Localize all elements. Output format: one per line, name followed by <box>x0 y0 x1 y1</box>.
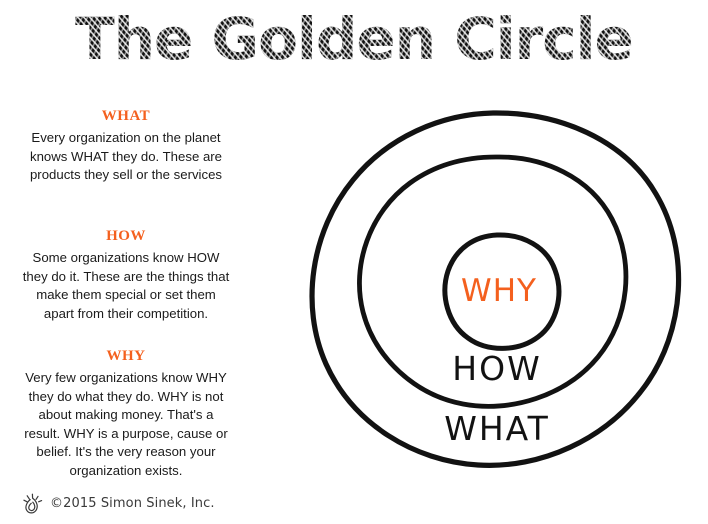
text-block-how: HOW Some organizations know HOW they do … <box>20 228 232 323</box>
block-heading-how: HOW <box>20 228 232 245</box>
spark-logo-icon <box>22 490 44 516</box>
block-body-how: Some organizations know HOW they do it. … <box>20 249 232 323</box>
block-body-why: Very few organizations know WHY they do … <box>20 369 232 480</box>
block-body-what: Every organization on the planet knows W… <box>20 129 232 185</box>
golden-circle-slide: The Golden Circle WHAT Every organizatio… <box>0 0 708 524</box>
text-block-what: WHAT Every organization on the planet kn… <box>20 108 232 185</box>
ring-label-how: HOW <box>452 349 541 388</box>
page-title: The Golden Circle <box>0 6 708 72</box>
golden-circle-diagram: WHY HOW WHAT <box>300 95 700 490</box>
ring-label-why: WHY <box>461 273 537 309</box>
text-block-why: WHY Very few organizations know WHY they… <box>20 348 232 480</box>
copyright-text: ©2015 Simon Sinek, Inc. <box>50 496 215 511</box>
block-heading-why: WHY <box>20 348 232 365</box>
footer: ©2015 Simon Sinek, Inc. <box>22 490 215 516</box>
ring-label-what: WHAT <box>444 409 550 448</box>
block-heading-what: WHAT <box>20 108 232 125</box>
